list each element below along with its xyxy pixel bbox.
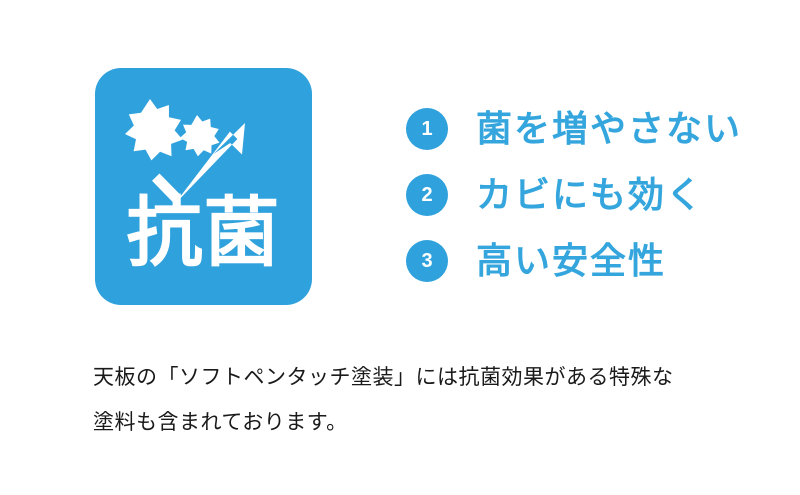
badge-word: 抗菌: [95, 194, 312, 274]
feature-number-badge-1: 1: [406, 108, 448, 150]
caption-paragraph: 天板の「ソフトペンタッチ塗装」には抗菌効果がある特殊な 塗料も含まれております。: [93, 355, 753, 445]
caption-line-2: 塗料も含まれております。: [93, 400, 753, 445]
feature-number-badge-2: 2: [406, 174, 448, 216]
caption-line-1: 天板の「ソフトペンタッチ塗装」には抗菌効果がある特殊な: [93, 355, 753, 400]
feature-item-1: 1 菌を増やさない: [406, 96, 766, 162]
feature-label-3: 高い安全性: [476, 241, 666, 281]
feature-item-3: 3 高い安全性: [406, 228, 766, 294]
feature-list: 1 菌を増やさない 2 カビにも効く 3 高い安全性: [406, 96, 766, 294]
germ-burst-small-icon: [180, 115, 220, 156]
feature-item-2: 2 カビにも効く: [406, 162, 766, 228]
feature-label-1: 菌を増やさない: [476, 109, 742, 149]
feature-label-2: カビにも効く: [476, 175, 704, 215]
antibacterial-badge: 抗菌: [95, 68, 312, 305]
germ-burst-large-icon: [125, 99, 183, 160]
feature-number-badge-3: 3: [406, 240, 448, 282]
promo-panel: 抗菌 1 菌を増やさない 2 カビにも効く 3 高い安全性 天板の「ソフトペンタ…: [0, 0, 800, 495]
